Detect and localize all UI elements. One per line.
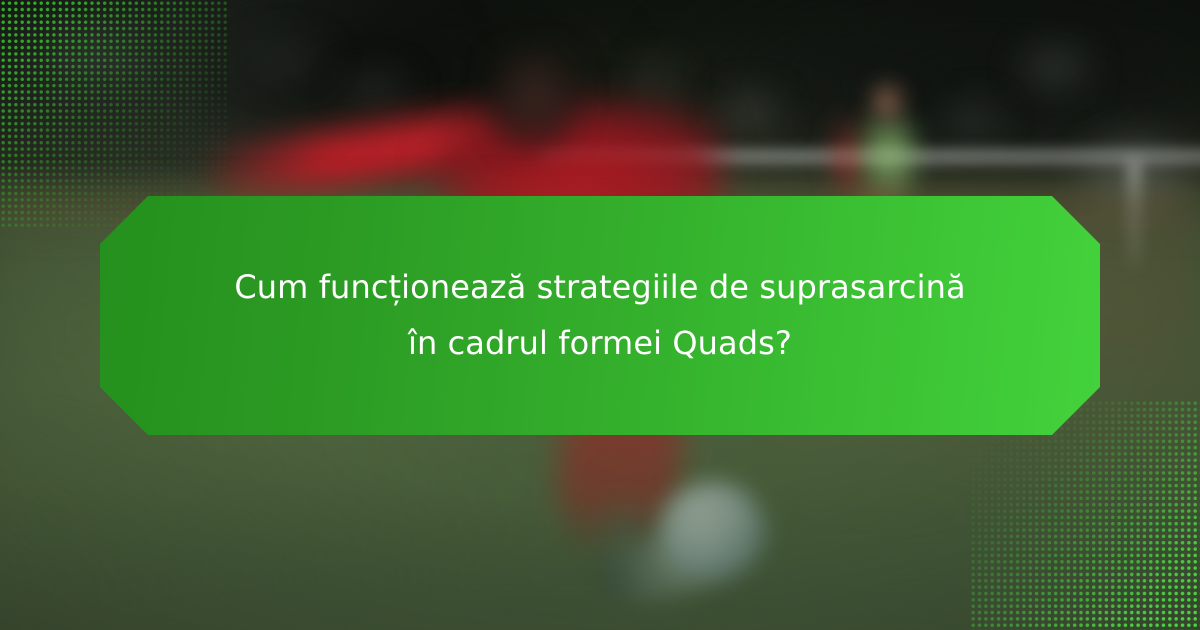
question-banner: Cum funcționează strategiile de suprasar… <box>100 196 1100 435</box>
social-question-card: Cum funcționează strategiile de suprasar… <box>0 0 1200 630</box>
question-text: Cum funcționează strategiile de suprasar… <box>160 260 1040 370</box>
